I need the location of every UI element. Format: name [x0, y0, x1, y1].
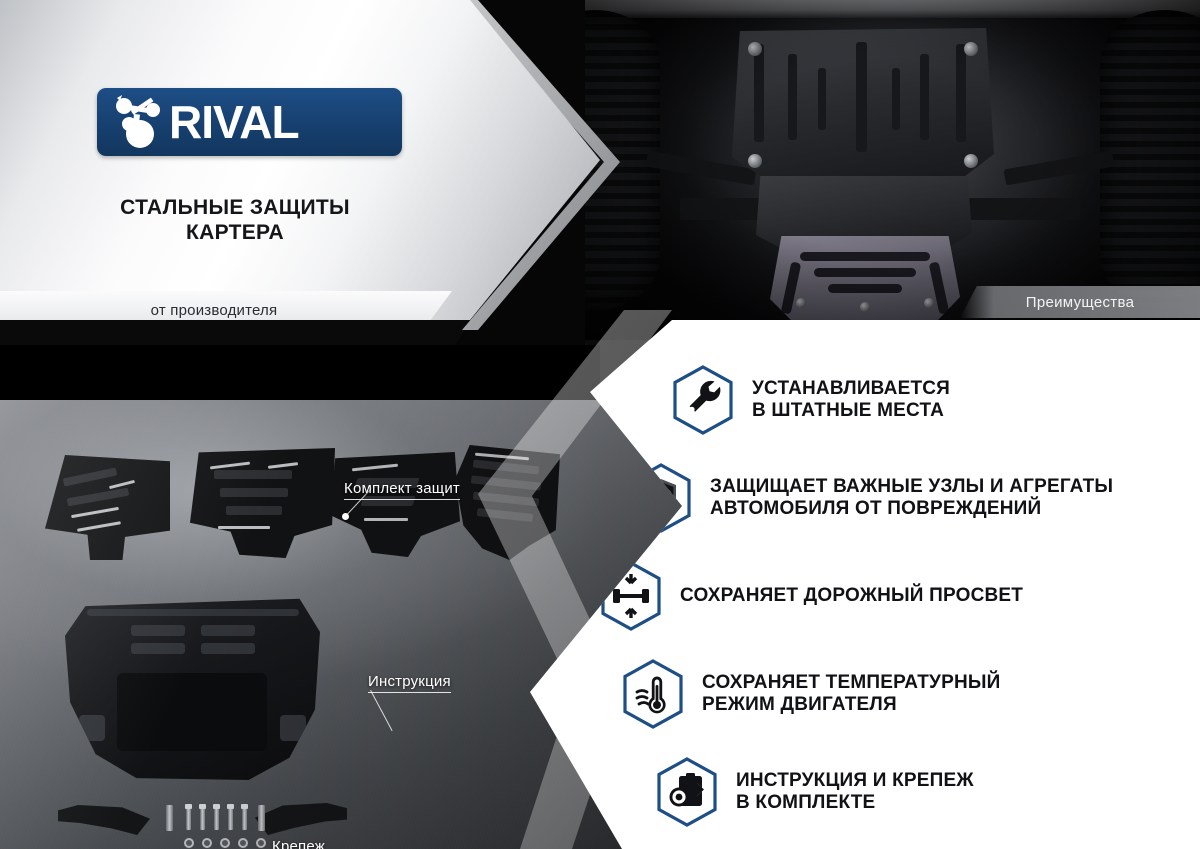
- callout-hardware: Крепеж: [272, 838, 325, 849]
- subtitle-band: от производителя: [0, 291, 452, 329]
- feature-item-install: УСТАНАВЛИВАЕТСЯ В ШТАТНЫЕ МЕСТА: [670, 364, 1190, 436]
- advantages-label: Преимущества: [1026, 294, 1134, 311]
- thermometer-icon: [620, 658, 686, 730]
- feature-protect-line2: АВТОМОБИЛЯ ОТ ПОВРЕЖДЕНИЙ: [710, 498, 1113, 520]
- feature-kit-line2: В КОМПЛЕКТЕ: [736, 792, 974, 814]
- features-panel: УСТАНАВЛИВАЕТСЯ В ШТАТНЫЕ МЕСТА ЗАЩИЩАЕТ…: [530, 320, 1200, 849]
- skid-plate-1: [45, 455, 170, 560]
- feature-temperature-line2: РЕЖИМ ДВИГАТЕЛЯ: [702, 694, 1001, 716]
- clipboard-bolt-icon: [654, 756, 720, 828]
- engine-skid-plate: [732, 28, 994, 178]
- promo-banner: Преимущества: [0, 0, 1200, 849]
- feature-item-clearance: СОХРАНЯЕТ ДОРОЖНЫЙ ПРОСВЕТ: [598, 560, 1190, 632]
- skid-plate-3: [330, 452, 460, 557]
- feature-temperature-line1: СОХРАНЯЕТ ТЕМПЕРАТУРНЫЙ: [702, 672, 1001, 694]
- molecule-icon: [109, 94, 171, 150]
- callout-kit: Комплект защит: [344, 480, 460, 500]
- feature-item-kit-included: ИНСТРУКЦИЯ И КРЕПЕЖ В КОМПЛЕКТЕ: [654, 756, 1190, 828]
- feature-kit-line1: ИНСТРУКЦИЯ И КРЕПЕЖ: [736, 770, 974, 792]
- feature-clearance-line1: СОХРАНЯЕТ ДОРОЖНЫЙ ПРОСВЕТ: [680, 585, 1023, 607]
- wheel-right: [1100, 10, 1200, 310]
- callout-instruction: Инструкция: [368, 673, 451, 693]
- rival-logo: RIVAL: [97, 88, 402, 156]
- feature-item-protect: ЗАЩИЩАЕТ ВАЖНЫЕ УЗЛЫ И АГРЕГАТЫ АВТОМОБИ…: [628, 462, 1190, 534]
- mounting-bracket-right: [255, 803, 347, 835]
- features-list: УСТАНАВЛИВАЕТСЯ В ШТАТНЫЕ МЕСТА ЗАЩИЩАЕТ…: [670, 364, 1190, 849]
- subtitle-text: от производителя: [151, 302, 278, 319]
- feature-item-temperature: СОХРАНЯЕТ ТЕМПЕРАТУРНЫЙ РЕЖИМ ДВИГАТЕЛЯ: [620, 658, 1190, 730]
- dark-band-divider: [0, 345, 600, 403]
- feature-install-line2: В ШТАТНЫЕ МЕСТА: [752, 400, 950, 422]
- headline-line-2: КАРТЕРА: [0, 221, 470, 246]
- feature-protect-line1: ЗАЩИЩАЕТ ВАЖНЫЕ УЗЛЫ И АГРЕГАТЫ: [710, 476, 1113, 498]
- callout-leader-instruction: [370, 690, 392, 731]
- page-title: СТАЛЬНЫЕ ЗАЩИТЫ КАРТЕРА: [0, 196, 470, 246]
- feature-install-line1: УСТАНАВЛИВАЕТСЯ: [752, 378, 950, 400]
- rival-wordmark: RIVAL: [169, 99, 299, 145]
- wrench-icon: [670, 364, 736, 436]
- hero-undercarriage-photo: Преимущества: [560, 0, 1200, 340]
- skid-plate-2: [190, 448, 335, 558]
- headline-line-1: СТАЛЬНЫЕ ЗАЩИТЫ: [0, 196, 470, 221]
- mounting-bracket-left: [58, 805, 150, 835]
- suspension-arm-right: [1003, 151, 1114, 186]
- advantages-label-band: Преимущества: [960, 286, 1200, 318]
- main-engine-guard: [65, 595, 320, 780]
- hero-bumper-edge: [560, 0, 1200, 18]
- panel-bottom-shadow: [0, 329, 470, 345]
- skid-plate-4: [455, 445, 560, 560]
